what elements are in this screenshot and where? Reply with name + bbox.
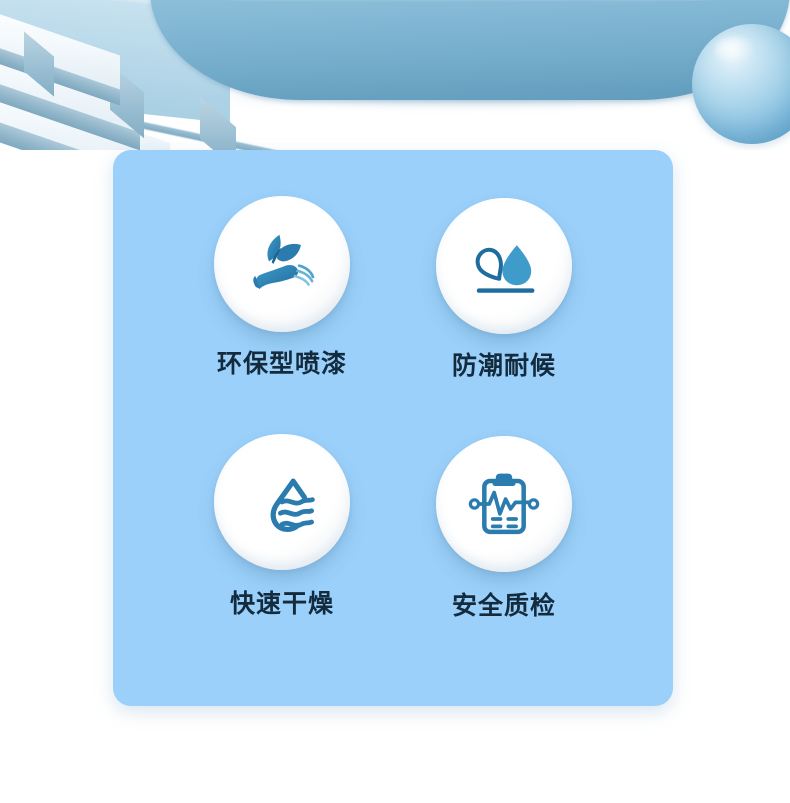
feature-card: 环保型喷漆 防潮耐候 <box>113 150 673 706</box>
feature-item-eco-paint[interactable]: 环保型喷漆 <box>171 196 393 434</box>
feature-badge <box>436 436 572 572</box>
feature-label: 安全质检 <box>452 594 556 619</box>
feature-label: 防潮耐候 <box>452 354 556 379</box>
sphere-gloss-highlight <box>714 36 756 64</box>
droplet-with-air-waves-icon <box>242 462 322 542</box>
feature-label: 环保型喷漆 <box>217 352 347 377</box>
water-drops-on-surface-icon <box>464 226 544 306</box>
top-3d-scene <box>0 0 790 150</box>
feature-item-fast-drying[interactable]: 快速干燥 <box>171 434 393 672</box>
feature-grid: 环保型喷漆 防潮耐候 <box>113 150 673 706</box>
hand-holding-leaf-icon <box>239 221 325 307</box>
feature-badge <box>436 198 572 334</box>
feature-label: 快速干燥 <box>230 592 334 617</box>
platform-shadow <box>200 88 760 110</box>
feature-item-moisture-weather-resistant[interactable]: 防潮耐候 <box>393 196 615 434</box>
clipboard-heartbeat-icon <box>463 463 545 545</box>
feature-badge <box>214 196 350 332</box>
feature-badge <box>214 434 350 570</box>
feature-item-safety-quality-inspection[interactable]: 安全质检 <box>393 434 615 672</box>
